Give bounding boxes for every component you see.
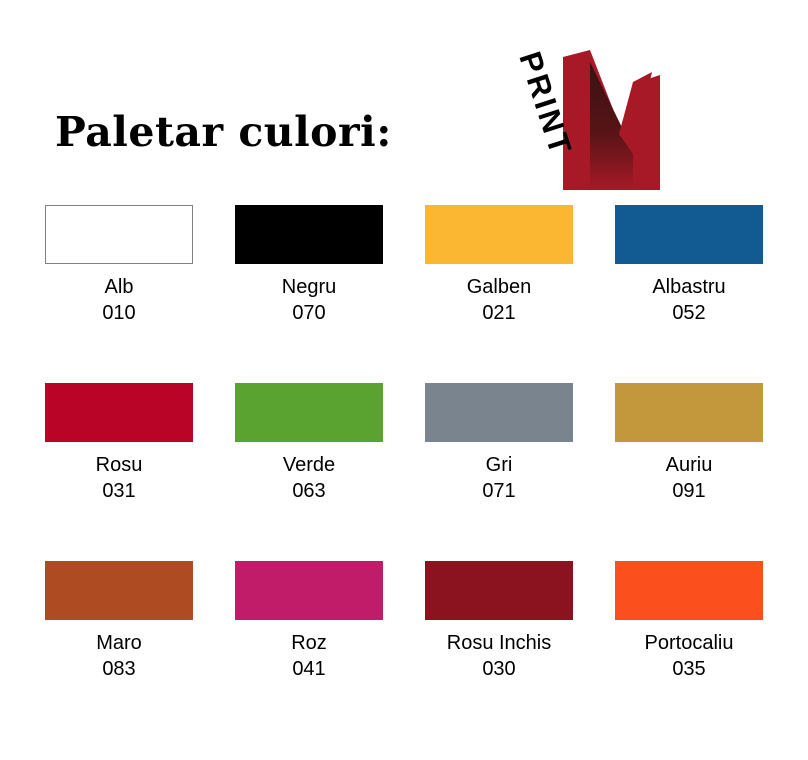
color-swatch-chip[interactable] [425, 205, 573, 264]
color-swatch-code: 010 [102, 300, 135, 326]
color-swatch-cell[interactable]: Galben021 [404, 205, 594, 383]
color-swatch-code: 070 [292, 300, 325, 326]
color-swatch-chip[interactable] [45, 205, 193, 264]
color-swatch-chip[interactable] [235, 205, 383, 264]
color-swatch-name: Negru [282, 275, 336, 300]
color-palette-grid: Alb010Negru070Galben021Albastru052Rosu03… [0, 205, 808, 739]
color-swatch-code: 030 [482, 656, 515, 682]
color-swatch-code: 031 [102, 478, 135, 504]
color-swatch-name: Roz [291, 631, 327, 656]
color-swatch-code: 063 [292, 478, 325, 504]
color-swatch-chip[interactable] [615, 561, 763, 620]
color-swatch-name: Portocaliu [645, 631, 734, 656]
color-swatch-cell[interactable]: Negru070 [214, 205, 404, 383]
color-swatch-cell[interactable]: Rosu031 [24, 383, 214, 561]
color-swatch-chip[interactable] [425, 561, 573, 620]
color-swatch-chip[interactable] [45, 561, 193, 620]
color-swatch-name: Galben [467, 275, 532, 300]
page-title: Paletar culori: [55, 108, 392, 156]
color-swatch-chip[interactable] [235, 383, 383, 442]
color-swatch-code: 021 [482, 300, 515, 326]
color-swatch-name: Gri [486, 453, 513, 478]
color-swatch-cell[interactable]: Albastru052 [594, 205, 784, 383]
color-swatch-cell[interactable]: Portocaliu035 [594, 561, 784, 739]
color-swatch-name: Alb [105, 275, 134, 300]
logo-m-right-stem [633, 75, 660, 190]
color-swatch-name: Auriu [666, 453, 713, 478]
color-swatch-cell[interactable]: Rosu Inchis030 [404, 561, 594, 739]
logo-mark-icon: PRINT [495, 42, 665, 197]
color-swatch-cell[interactable]: Roz041 [214, 561, 404, 739]
page-header: Paletar culori: PRINT [0, 0, 808, 205]
color-swatch-cell[interactable]: Alb010 [24, 205, 214, 383]
color-swatch-code: 035 [672, 656, 705, 682]
color-swatch-name: Maro [96, 631, 142, 656]
color-swatch-cell[interactable]: Gri071 [404, 383, 594, 561]
color-swatch-chip[interactable] [615, 383, 763, 442]
company-logo: PRINT [495, 42, 665, 197]
color-swatch-code: 091 [672, 478, 705, 504]
color-swatch-code: 071 [482, 478, 515, 504]
color-swatch-name: Albastru [652, 275, 725, 300]
color-swatch-code: 052 [672, 300, 705, 326]
color-swatch-cell[interactable]: Verde063 [214, 383, 404, 561]
color-swatch-code: 041 [292, 656, 325, 682]
color-swatch-chip[interactable] [235, 561, 383, 620]
color-swatch-chip[interactable] [425, 383, 573, 442]
color-swatch-cell[interactable]: Auriu091 [594, 383, 784, 561]
color-swatch-code: 083 [102, 656, 135, 682]
color-swatch-name: Rosu Inchis [447, 631, 552, 656]
color-swatch-name: Verde [283, 453, 335, 478]
color-swatch-chip[interactable] [615, 205, 763, 264]
color-swatch-name: Rosu [96, 453, 143, 478]
color-swatch-chip[interactable] [45, 383, 193, 442]
color-swatch-cell[interactable]: Maro083 [24, 561, 214, 739]
